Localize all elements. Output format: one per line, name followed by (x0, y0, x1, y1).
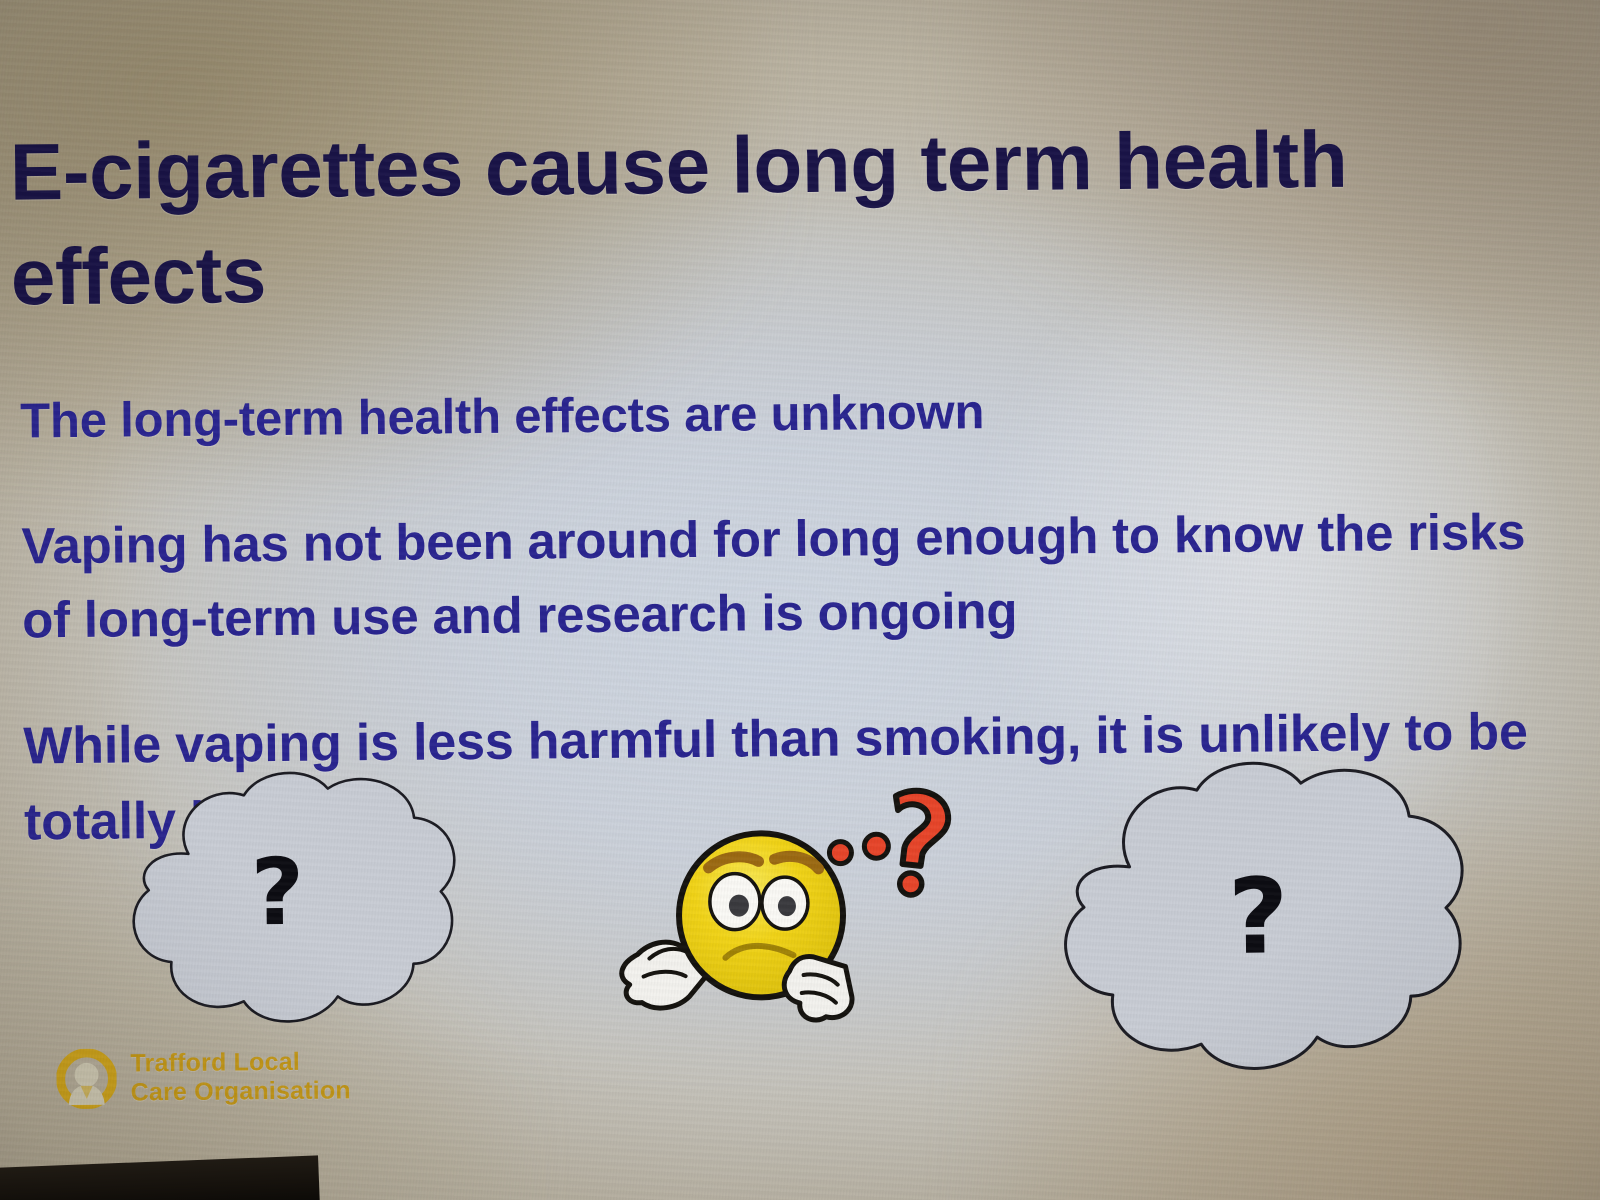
screen-moire-texture (0, 0, 1600, 1200)
slide-photo: E-cigarettes cause long term health effe… (0, 0, 1600, 1200)
